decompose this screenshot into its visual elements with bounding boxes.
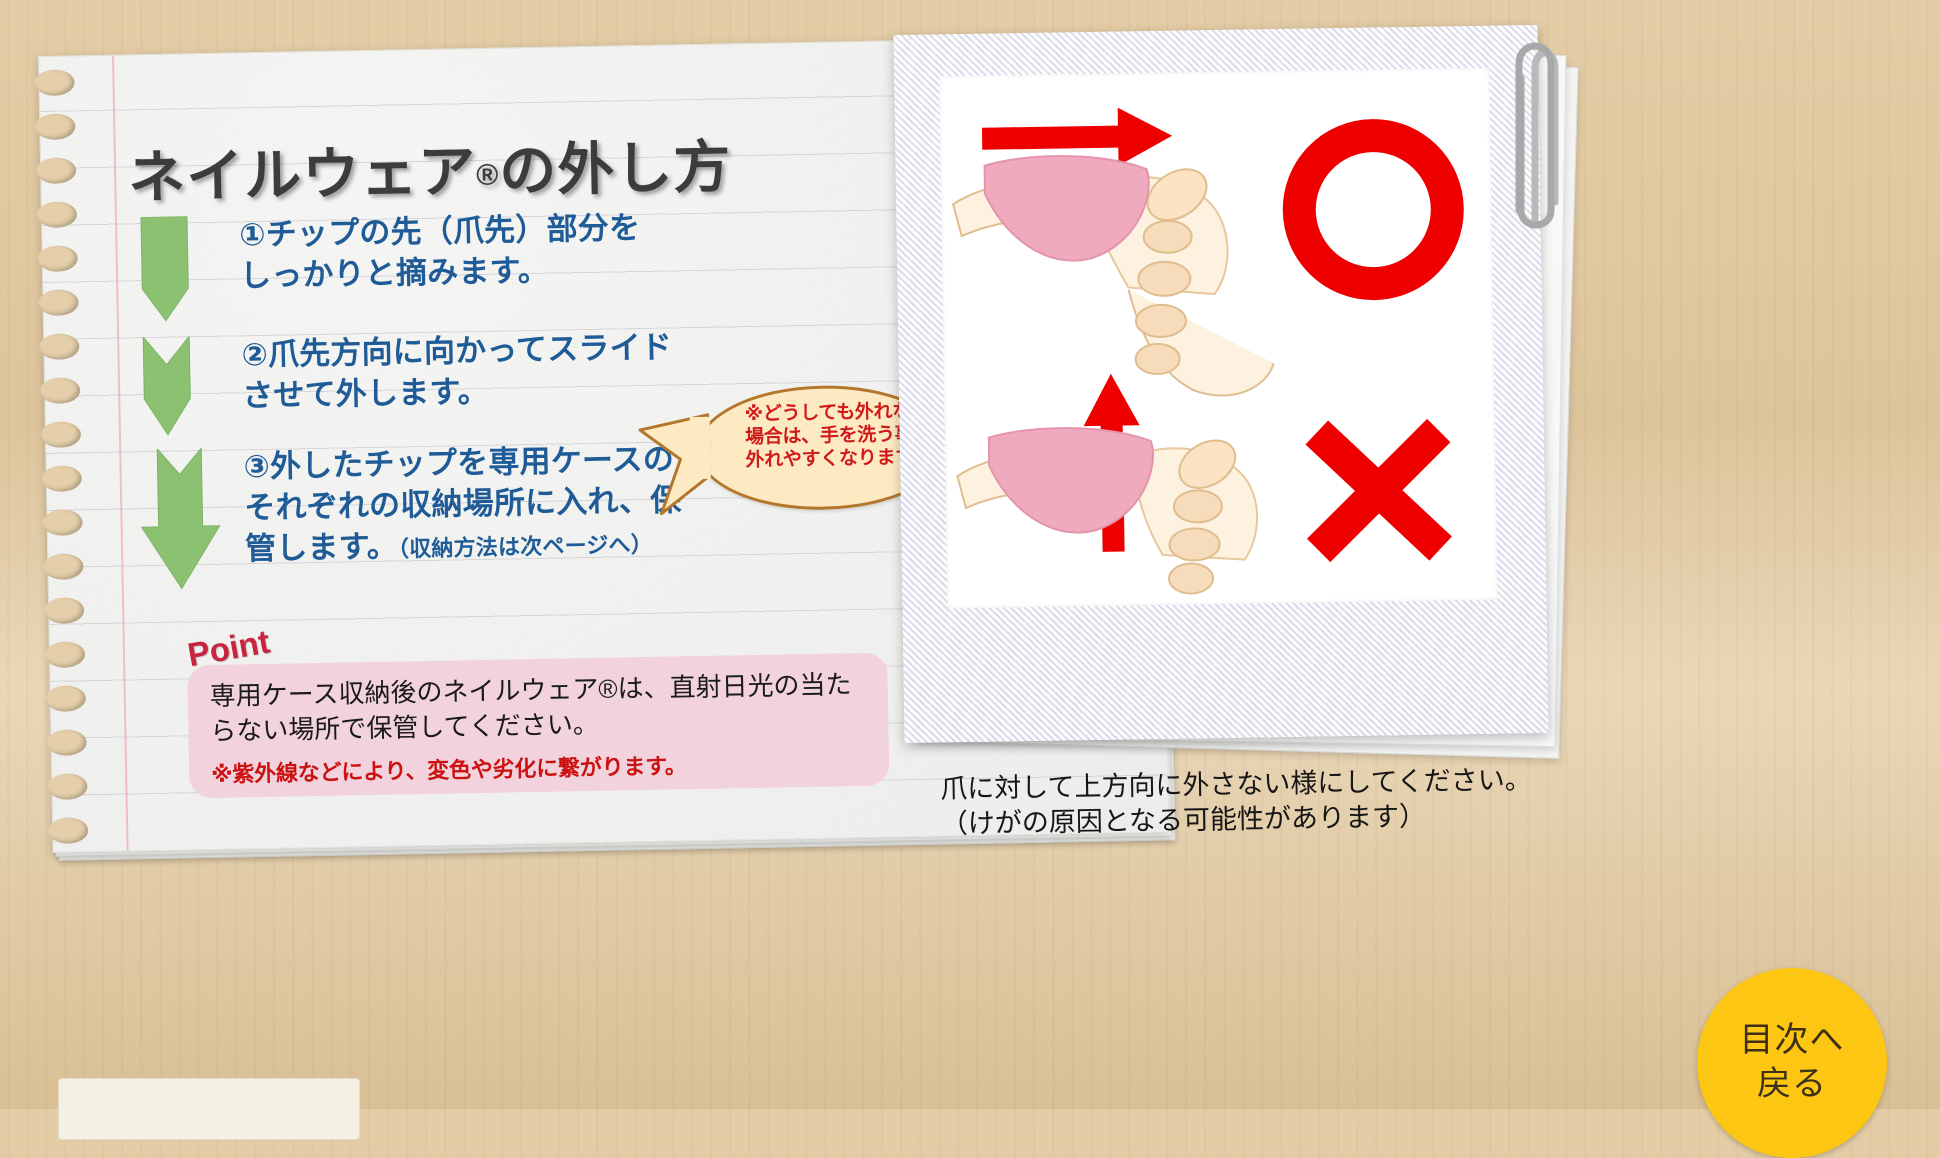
instruction-photo (939, 68, 1497, 609)
step-1-line-2: しっかりと摘みます。 (240, 247, 771, 298)
step-3-note: （収納方法は次ページへ） (398, 532, 653, 562)
paperclip-icon (1499, 34, 1569, 239)
page-title: ネイルウェア®の外し方 (127, 121, 732, 214)
down-arrow-icon-1 (135, 216, 195, 327)
point-note-text: ※紫外線などにより、変色や劣化に繋がります。 (211, 745, 871, 789)
return-to-index-button[interactable]: 目次へ 戻る (1697, 968, 1887, 1158)
step-3-line-3: 管します。 (245, 528, 399, 566)
nail-tip-chip-incorrect (989, 427, 1154, 534)
margin-rule-line (112, 56, 129, 851)
photo-caption: 爪に対して上方向に外さない様にしてください。 （けがの原因となる可能性があります… (940, 761, 1631, 841)
step-3-line-3-wrap: 管します。（収納方法は次ページへ） (245, 519, 776, 570)
correct-mark-circle-icon (1298, 134, 1448, 284)
bubble-tail-icon (630, 413, 712, 524)
step-item-1: ①チップの先（爪先）部分を しっかりと摘みます。 (129, 206, 771, 334)
incorrect-mark-cross-icon (1317, 431, 1441, 551)
step-2-line-2: させて外します。 (242, 367, 773, 418)
nail-removal-diagram (939, 68, 1497, 609)
photo-stack (899, 30, 1589, 770)
point-box: 専用ケース収納後のネイルウェア®は、直射日光の当たらない場所で保管してください。… (187, 653, 889, 799)
page-title-main: ネイルウェア (128, 140, 477, 210)
registered-trademark-icon: ® (476, 159, 500, 192)
page-title-tail: の外し方 (499, 135, 732, 203)
steps-list: ①チップの先（爪先）部分を しっかりと摘みます。 ②爪先方向に向かってスライド … (129, 206, 776, 604)
return-button-line-2: 戻る (1757, 1063, 1827, 1107)
down-arrow-icon-2 (137, 336, 197, 441)
down-arrow-icon-3 (139, 448, 222, 593)
return-button-line-1: 目次へ (1740, 1019, 1845, 1063)
bottom-left-paper-edge (58, 1078, 360, 1140)
point-main-text: 専用ケース収納後のネイルウェア®は、直射日光の当たらない場所で保管してください。 (209, 667, 870, 749)
step-text-2: ②爪先方向に向かってスライド させて外します。 (241, 326, 772, 418)
instruction-photo-frame (893, 25, 1548, 743)
step-text-1: ①チップの先（爪先）部分を しっかりと摘みます。 (239, 206, 770, 298)
